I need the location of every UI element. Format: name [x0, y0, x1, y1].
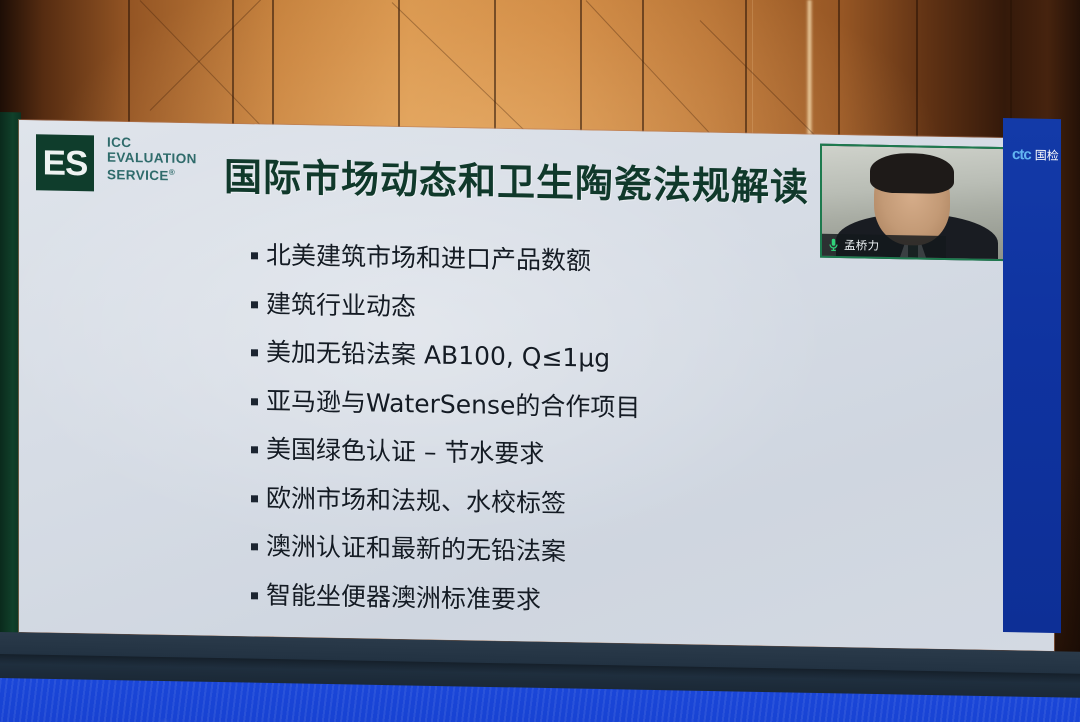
list-item: 亚马逊与WaterSense的合作项目	[251, 385, 951, 429]
conference-screen-photo: ES ICC EVALUATION SERVICE® 国际市场动态和卫生陶瓷法规…	[0, 0, 1080, 722]
bullet-square-icon	[251, 495, 258, 502]
slide-title: 国际市场动态和卫生陶瓷法规解读	[224, 146, 809, 212]
registered-mark: ®	[169, 168, 175, 177]
es-logo-mark: ES	[36, 134, 94, 191]
screen-left-frame	[0, 112, 21, 672]
bullet-text: 美加无铅法案 AB100, Q≤1μg	[266, 337, 610, 374]
bullet-square-icon	[251, 592, 258, 599]
microphone-icon[interactable]	[828, 238, 839, 252]
participant-name: 孟桥力	[844, 237, 879, 254]
bullet-text: 建筑行业动态	[266, 288, 416, 322]
list-item: 智能坐便器澳洲标准要求	[251, 579, 951, 623]
list-item: 澳洲认证和最新的无铅法案	[251, 530, 951, 574]
bullet-square-icon	[251, 349, 258, 356]
bullet-text: 美国绿色认证 – 节水要求	[266, 434, 544, 470]
bullet-square-icon	[251, 398, 258, 405]
es-subtitle-line-3: SERVICE®	[107, 165, 197, 185]
bullet-square-icon	[251, 252, 258, 259]
list-item: 美加无铅法案 AB100, Q≤1μg	[251, 336, 951, 380]
video-participant-tile[interactable]: 孟桥力	[820, 144, 1014, 262]
ctc-logo-mark: ctc	[1012, 146, 1031, 163]
ctc-logo-text: 国检	[1035, 146, 1059, 163]
bullet-square-icon	[251, 301, 258, 308]
ctc-brand-logo: ctc 国检	[1012, 146, 1059, 164]
screen-blue-side-panel	[1003, 118, 1061, 633]
es-subtitle-line-2: EVALUATION	[107, 150, 197, 166]
bullet-text: 亚马逊与WaterSense的合作项目	[266, 385, 640, 423]
es-subtitle-line-3-text: SERVICE	[107, 167, 169, 183]
list-item: 建筑行业动态	[251, 288, 951, 332]
bullet-text: 北美建筑市场和进口产品数额	[266, 240, 591, 277]
presentation-screen: ES ICC EVALUATION SERVICE® 国际市场动态和卫生陶瓷法规…	[0, 112, 1080, 722]
bullet-text: 智能坐便器澳洲标准要求	[266, 579, 541, 615]
participant-name-bar: 孟桥力	[822, 234, 946, 258]
list-item: 美国绿色认证 – 节水要求	[251, 433, 951, 477]
slide-surface: ES ICC EVALUATION SERVICE® 国际市场动态和卫生陶瓷法规…	[19, 120, 1054, 651]
es-logo-text: ES	[43, 145, 88, 181]
bullet-square-icon	[251, 446, 258, 453]
bullet-text: 欧洲市场和法规、水校标签	[266, 482, 566, 518]
bullet-square-icon	[251, 543, 258, 550]
video-person-hair	[870, 153, 954, 195]
slide-bullet-list: 北美建筑市场和进口产品数额 建筑行业动态 美加无铅法案 AB100, Q≤1μg…	[251, 239, 951, 640]
list-item: 欧洲市场和法规、水校标签	[251, 482, 951, 526]
bullet-text: 澳洲认证和最新的无铅法案	[266, 531, 566, 567]
es-logo-subtitle: ICC EVALUATION SERVICE®	[107, 136, 197, 185]
